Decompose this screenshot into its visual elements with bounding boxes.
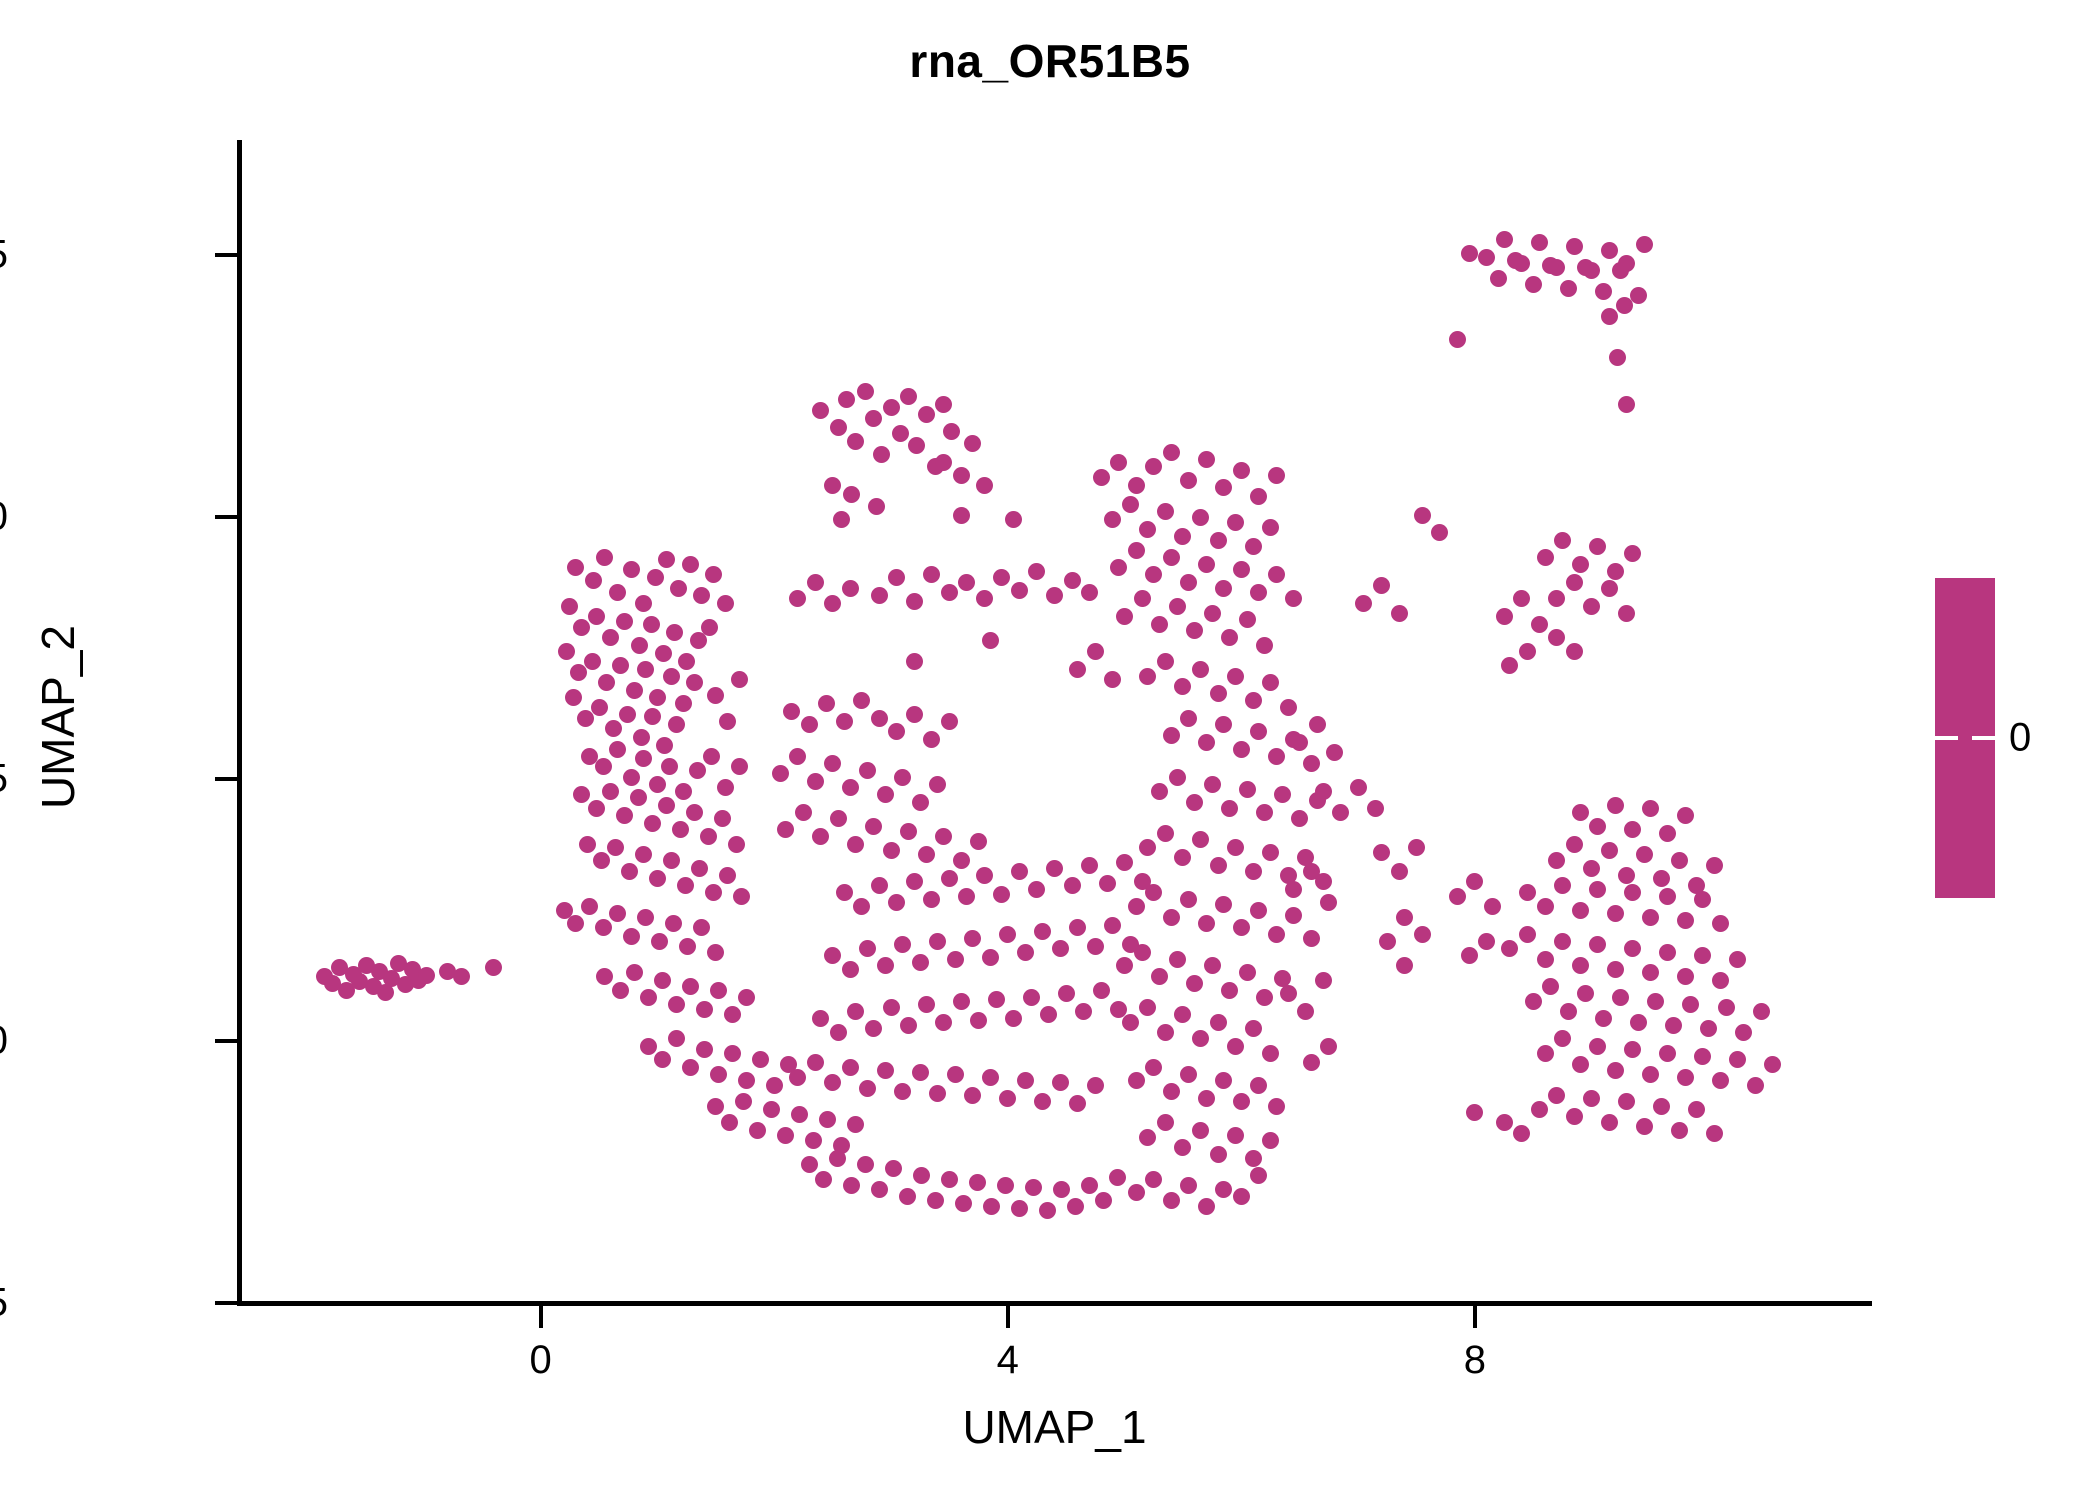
- scatter-point: [1157, 1114, 1174, 1131]
- scatter-point: [871, 587, 888, 604]
- scatter-point: [1192, 831, 1209, 848]
- scatter-point: [1139, 668, 1156, 685]
- scatter-point: [997, 1177, 1014, 1194]
- scatter-point: [1245, 692, 1262, 709]
- scatter-point: [707, 1098, 724, 1115]
- scatter-point: [819, 1111, 836, 1128]
- scatter-point: [581, 898, 598, 915]
- scatter-point: [1210, 857, 1227, 874]
- scatter-point: [1647, 993, 1664, 1010]
- scatter-point: [672, 821, 689, 838]
- scatter-point: [663, 668, 680, 685]
- scatter-point: [941, 713, 958, 730]
- scatter-point: [1607, 905, 1624, 922]
- x-tick-label: 0: [481, 1338, 601, 1383]
- scatter-point: [731, 758, 748, 775]
- scatter-point: [1011, 1200, 1028, 1217]
- scatter-point: [1548, 1087, 1565, 1104]
- scatter-point: [853, 692, 870, 709]
- scatter-point: [670, 580, 687, 597]
- scatter-point: [1729, 951, 1746, 968]
- scatter-point: [1192, 661, 1209, 678]
- scatter-point: [663, 852, 680, 869]
- scatter-point: [1180, 891, 1197, 908]
- scatter-point: [1233, 919, 1250, 936]
- scatter-point: [1040, 1006, 1057, 1023]
- scatter-point: [710, 982, 727, 999]
- scatter-point: [668, 996, 685, 1013]
- scatter-point: [1519, 643, 1536, 660]
- scatter-point: [1250, 723, 1267, 740]
- scatter-point: [763, 1101, 780, 1118]
- scatter-point: [1128, 1184, 1145, 1201]
- scatter-point: [1537, 951, 1554, 968]
- scatter-point: [1046, 860, 1063, 877]
- scatter-point: [1367, 800, 1384, 817]
- scatter-point: [877, 957, 894, 974]
- y-axis-title: UMAP_2: [31, 367, 85, 1067]
- scatter-point: [654, 972, 671, 989]
- scatter-point: [1566, 643, 1583, 660]
- scatter-point: [1624, 545, 1641, 562]
- y-tick-label: 5.0: [0, 495, 8, 540]
- scatter-point: [1215, 580, 1232, 597]
- scatter-point: [970, 833, 987, 850]
- scatter-point: [626, 964, 643, 981]
- scatter-point: [836, 884, 853, 901]
- scatter-point: [953, 507, 970, 524]
- scatter-point: [1239, 964, 1256, 981]
- scatter-point: [1186, 622, 1203, 639]
- y-tick: [215, 1039, 237, 1043]
- scatter-point: [1163, 909, 1180, 926]
- scatter-point: [789, 1069, 806, 1086]
- scatter-point: [1636, 846, 1653, 863]
- y-tick-label: 7.5: [0, 233, 8, 278]
- scatter-point: [1227, 839, 1244, 856]
- scatter-point: [596, 549, 613, 566]
- scatter-point: [1227, 668, 1244, 685]
- scatter-point: [1285, 907, 1302, 924]
- scatter-point: [1262, 1132, 1279, 1149]
- scatter-point: [976, 867, 993, 884]
- scatter-point: [1636, 1118, 1653, 1135]
- scatter-point: [1379, 933, 1396, 950]
- scatter-point: [993, 886, 1010, 903]
- scatter-point: [1081, 584, 1098, 601]
- scatter-point: [1595, 283, 1612, 300]
- scatter-point: [1134, 944, 1151, 961]
- scatter-point: [988, 991, 1005, 1008]
- scatter-point: [1227, 1038, 1244, 1055]
- scatter-point: [912, 794, 929, 811]
- scatter-point: [1145, 458, 1162, 475]
- scatter-point: [637, 909, 654, 926]
- scatter-point: [847, 1116, 864, 1133]
- scatter-point: [1653, 1098, 1670, 1115]
- scatter-point: [1262, 844, 1279, 861]
- scatter-point: [1513, 590, 1530, 607]
- scatter-point: [1233, 561, 1250, 578]
- scatter-point: [976, 477, 993, 494]
- scatter-point: [686, 804, 703, 821]
- scatter-point: [1025, 1179, 1042, 1196]
- scatter-point: [923, 731, 940, 748]
- scatter-point: [609, 584, 626, 601]
- scatter-point: [1659, 944, 1676, 961]
- scatter-point: [894, 936, 911, 953]
- scatter-point: [1484, 898, 1501, 915]
- scatter-point: [658, 551, 675, 568]
- scatter-point: [842, 779, 859, 796]
- scatter-point: [1496, 1114, 1513, 1131]
- scatter-point: [1712, 1072, 1729, 1089]
- scatter-point: [912, 954, 929, 971]
- scatter-point: [596, 968, 613, 985]
- scatter-point: [1069, 1095, 1086, 1112]
- scatter-point: [724, 1045, 741, 1062]
- scatter-point: [640, 989, 657, 1006]
- scatter-point: [1011, 582, 1028, 599]
- scatter-point: [1461, 947, 1478, 964]
- scatter-point: [964, 930, 981, 947]
- scatter-point: [865, 818, 882, 835]
- page-title: rna_OR51B5: [0, 34, 2100, 88]
- scatter-point: [418, 967, 435, 984]
- scatter-point: [714, 810, 731, 827]
- scatter-point: [690, 632, 707, 649]
- scatter-points-layer: [237, 140, 1872, 1303]
- scatter-point: [635, 846, 652, 863]
- scatter-point: [595, 758, 612, 775]
- scatter-point: [1157, 1024, 1174, 1041]
- scatter-point: [953, 467, 970, 484]
- scatter-point: [1396, 909, 1413, 926]
- scatter-point: [857, 1156, 874, 1173]
- scatter-point: [1087, 643, 1104, 660]
- scatter-point: [1355, 595, 1372, 612]
- scatter-point: [1496, 231, 1513, 248]
- scatter-point: [573, 786, 590, 803]
- scatter-point: [801, 1156, 818, 1173]
- scatter-point: [1204, 605, 1221, 622]
- scatter-point: [1601, 308, 1618, 325]
- scatter-point: [693, 587, 710, 604]
- scatter-point: [1198, 915, 1215, 932]
- scatter-point: [1642, 800, 1659, 817]
- scatter-point: [1496, 608, 1513, 625]
- x-axis-line: [237, 1301, 1872, 1306]
- scatter-point: [1262, 519, 1279, 536]
- scatter-point: [621, 863, 638, 880]
- scatter-point: [1204, 776, 1221, 793]
- scatter-point: [976, 590, 993, 607]
- scatter-point: [623, 561, 640, 578]
- scatter-point: [696, 1041, 713, 1058]
- scatter-point: [1671, 852, 1688, 869]
- scatter-point: [1005, 511, 1022, 528]
- scatter-point: [1245, 1150, 1262, 1167]
- scatter-point: [1058, 985, 1075, 1002]
- y-tick-label: -2.5: [0, 1281, 8, 1326]
- scatter-point: [1093, 982, 1110, 999]
- scatter-point: [1064, 877, 1081, 894]
- scatter-point: [691, 860, 708, 877]
- scatter-point: [958, 888, 975, 905]
- x-tick-label: 8: [1415, 1338, 1535, 1383]
- scatter-point: [947, 951, 964, 968]
- scatter-point: [1250, 584, 1267, 601]
- scatter-point: [567, 915, 584, 932]
- scatter-point: [675, 783, 692, 800]
- scatter-point: [668, 1030, 685, 1047]
- scatter-point: [1139, 521, 1156, 538]
- scatter-point: [1204, 957, 1221, 974]
- scatter-point: [892, 425, 909, 442]
- scatter-point: [735, 1093, 752, 1110]
- scatter-point: [1712, 915, 1729, 932]
- scatter-point: [1589, 936, 1606, 953]
- scatter-point: [1601, 242, 1618, 259]
- scatter-point: [842, 1059, 859, 1076]
- scatter-point: [1682, 996, 1699, 1013]
- scatter-point: [1256, 637, 1273, 654]
- scatter-point: [1712, 972, 1729, 989]
- scatter-point: [719, 713, 736, 730]
- scatter-point: [1642, 964, 1659, 981]
- scatter-point: [871, 1181, 888, 1198]
- scatter-point: [1192, 1122, 1209, 1139]
- scatter-point: [1309, 716, 1326, 733]
- scatter-point: [1174, 849, 1191, 866]
- scatter-point: [859, 940, 876, 957]
- scatter-point: [838, 391, 855, 408]
- scatter-point: [833, 511, 850, 528]
- scatter-point: [1350, 779, 1367, 796]
- scatter-point: [619, 706, 636, 723]
- scatter-point: [929, 776, 946, 793]
- scatter-point: [1665, 1017, 1682, 1034]
- scatter-point: [1180, 574, 1197, 591]
- legend-tick-gap: [1958, 735, 1972, 741]
- scatter-point: [908, 437, 925, 454]
- scatter-point: [1391, 863, 1408, 880]
- scatter-point: [1122, 496, 1139, 513]
- scatter-point: [1116, 608, 1133, 625]
- scatter-point: [607, 839, 624, 856]
- scatter-point: [1250, 1167, 1267, 1184]
- scatter-point: [644, 708, 661, 725]
- scatter-point: [953, 852, 970, 869]
- scatter-point: [630, 789, 647, 806]
- scatter-point: [1554, 933, 1571, 950]
- scatter-point: [1052, 940, 1069, 957]
- scatter-point: [766, 1077, 783, 1094]
- x-tick: [1473, 1306, 1477, 1328]
- scatter-point: [577, 710, 594, 727]
- scatter-point: [616, 807, 633, 824]
- scatter-point: [1075, 1003, 1092, 1020]
- scatter-point: [888, 723, 905, 740]
- scatter-point: [1624, 884, 1641, 901]
- scatter-point: [1303, 930, 1320, 947]
- scatter-point: [1039, 1202, 1056, 1219]
- scatter-point: [1256, 989, 1273, 1006]
- scatter-point: [1210, 1146, 1227, 1163]
- scatter-point: [1174, 528, 1191, 545]
- scatter-point: [906, 706, 923, 723]
- scatter-point: [1151, 968, 1168, 985]
- scatter-point: [900, 388, 917, 405]
- scatter-point: [1268, 1098, 1285, 1115]
- scatter-point: [1245, 538, 1262, 555]
- y-tick: [215, 253, 237, 257]
- scatter-point: [1618, 1093, 1635, 1110]
- scatter-point: [644, 815, 661, 832]
- scatter-point: [626, 682, 643, 699]
- scatter-point: [1221, 800, 1238, 817]
- scatter-point: [1192, 1030, 1209, 1047]
- scatter-point: [941, 870, 958, 887]
- scatter-point: [1180, 1066, 1197, 1083]
- scatter-point: [623, 928, 640, 945]
- scatter-point: [1706, 857, 1723, 874]
- scatter-point: [1227, 514, 1244, 531]
- scatter-point: [883, 842, 900, 859]
- scatter-point: [637, 661, 654, 678]
- legend-tick-label: 0: [2009, 716, 2031, 761]
- scatter-point: [1572, 804, 1589, 821]
- scatter-point: [1233, 462, 1250, 479]
- scatter-point: [1572, 1056, 1589, 1073]
- scatter-point: [1116, 854, 1133, 871]
- scatter-point: [485, 959, 502, 976]
- scatter-point: [649, 776, 666, 793]
- scatter-point: [1268, 926, 1285, 943]
- scatter-point: [857, 383, 874, 400]
- scatter-point: [1198, 1090, 1215, 1107]
- scatter-point: [1268, 467, 1285, 484]
- scatter-point: [738, 1072, 755, 1089]
- scatter-point: [602, 629, 619, 646]
- scatter-point: [982, 632, 999, 649]
- scatter-point: [1607, 797, 1624, 814]
- scatter-point: [1198, 451, 1215, 468]
- scatter-point: [612, 657, 629, 674]
- scatter-point: [877, 1062, 894, 1079]
- scatter-point: [1005, 1010, 1022, 1027]
- scatter-point: [643, 616, 660, 633]
- scatter-point: [1572, 556, 1589, 573]
- scatter-point: [1525, 993, 1542, 1010]
- scatter-point: [888, 894, 905, 911]
- scatter-point: [1215, 896, 1232, 913]
- scatter-point: [1624, 821, 1641, 838]
- scatter-point: [1081, 857, 1098, 874]
- scatter-point: [923, 566, 940, 583]
- scatter-point: [1589, 881, 1606, 898]
- scatter-point: [1630, 1014, 1647, 1031]
- scatter-point: [842, 961, 859, 978]
- scatter-point: [805, 1132, 822, 1149]
- scatter-point: [830, 1024, 847, 1041]
- scatter-point: [906, 873, 923, 890]
- scatter-point: [1577, 985, 1594, 1002]
- scatter-point: [635, 750, 652, 767]
- scatter-point: [1677, 912, 1694, 929]
- scatter-point: [847, 836, 864, 853]
- scatter-point: [733, 888, 750, 905]
- scatter-point: [824, 595, 841, 612]
- scatter-point: [1548, 629, 1565, 646]
- scatter-point: [927, 1192, 944, 1209]
- scatter-point: [1729, 1051, 1746, 1068]
- scatter-point: [1671, 1122, 1688, 1139]
- scatter-point: [649, 689, 666, 706]
- scatter-point: [1431, 524, 1448, 541]
- scatter-point: [724, 1006, 741, 1023]
- scatter-point: [1554, 1030, 1571, 1047]
- y-tick: [215, 1301, 237, 1305]
- scatter-point: [1478, 249, 1495, 266]
- scatter-point: [1174, 1139, 1191, 1156]
- scatter-point: [1408, 839, 1425, 856]
- plot-panel: [237, 140, 1872, 1303]
- scatter-point: [847, 1003, 864, 1020]
- scatter-point: [1659, 825, 1676, 842]
- scatter-point: [1566, 836, 1583, 853]
- scatter-point: [1589, 538, 1606, 555]
- scatter-point: [1221, 629, 1238, 646]
- scatter-point: [1572, 957, 1589, 974]
- scatter-point: [1174, 1006, 1191, 1023]
- scatter-point: [918, 996, 935, 1013]
- scatter-point: [1609, 349, 1626, 366]
- scatter-point: [1116, 957, 1133, 974]
- scatter-point: [873, 446, 890, 463]
- scatter-point: [1069, 661, 1086, 678]
- scatter-point: [598, 674, 615, 691]
- scatter-point: [842, 580, 859, 597]
- scatter-point: [1753, 1003, 1770, 1020]
- scatter-point: [865, 410, 882, 427]
- scatter-point: [912, 1064, 929, 1081]
- scatter-point: [1122, 1014, 1139, 1031]
- scatter-point: [1186, 794, 1203, 811]
- scatter-point: [1128, 477, 1145, 494]
- scatter-point: [918, 846, 935, 863]
- scatter-point: [935, 1014, 952, 1031]
- scatter-point: [752, 1051, 769, 1068]
- scatter-point: [1067, 1198, 1084, 1215]
- scatter-point: [1548, 852, 1565, 869]
- scatter-point: [795, 804, 812, 821]
- scatter-point: [1151, 616, 1168, 633]
- legend-colorbar[interactable]: 0: [1935, 578, 1995, 898]
- scatter-point: [588, 800, 605, 817]
- scatter-point: [1414, 926, 1431, 943]
- scatter-point: [1291, 810, 1308, 827]
- scatter-point: [1198, 734, 1215, 751]
- scatter-point: [1210, 685, 1227, 702]
- scatter-point: [1139, 1129, 1156, 1146]
- scatter-point: [703, 748, 720, 765]
- scatter-point: [1612, 989, 1629, 1006]
- x-tick-label: 4: [948, 1338, 1068, 1383]
- scatter-point: [935, 454, 952, 471]
- scatter-point: [824, 477, 841, 494]
- scatter-point: [777, 1127, 794, 1144]
